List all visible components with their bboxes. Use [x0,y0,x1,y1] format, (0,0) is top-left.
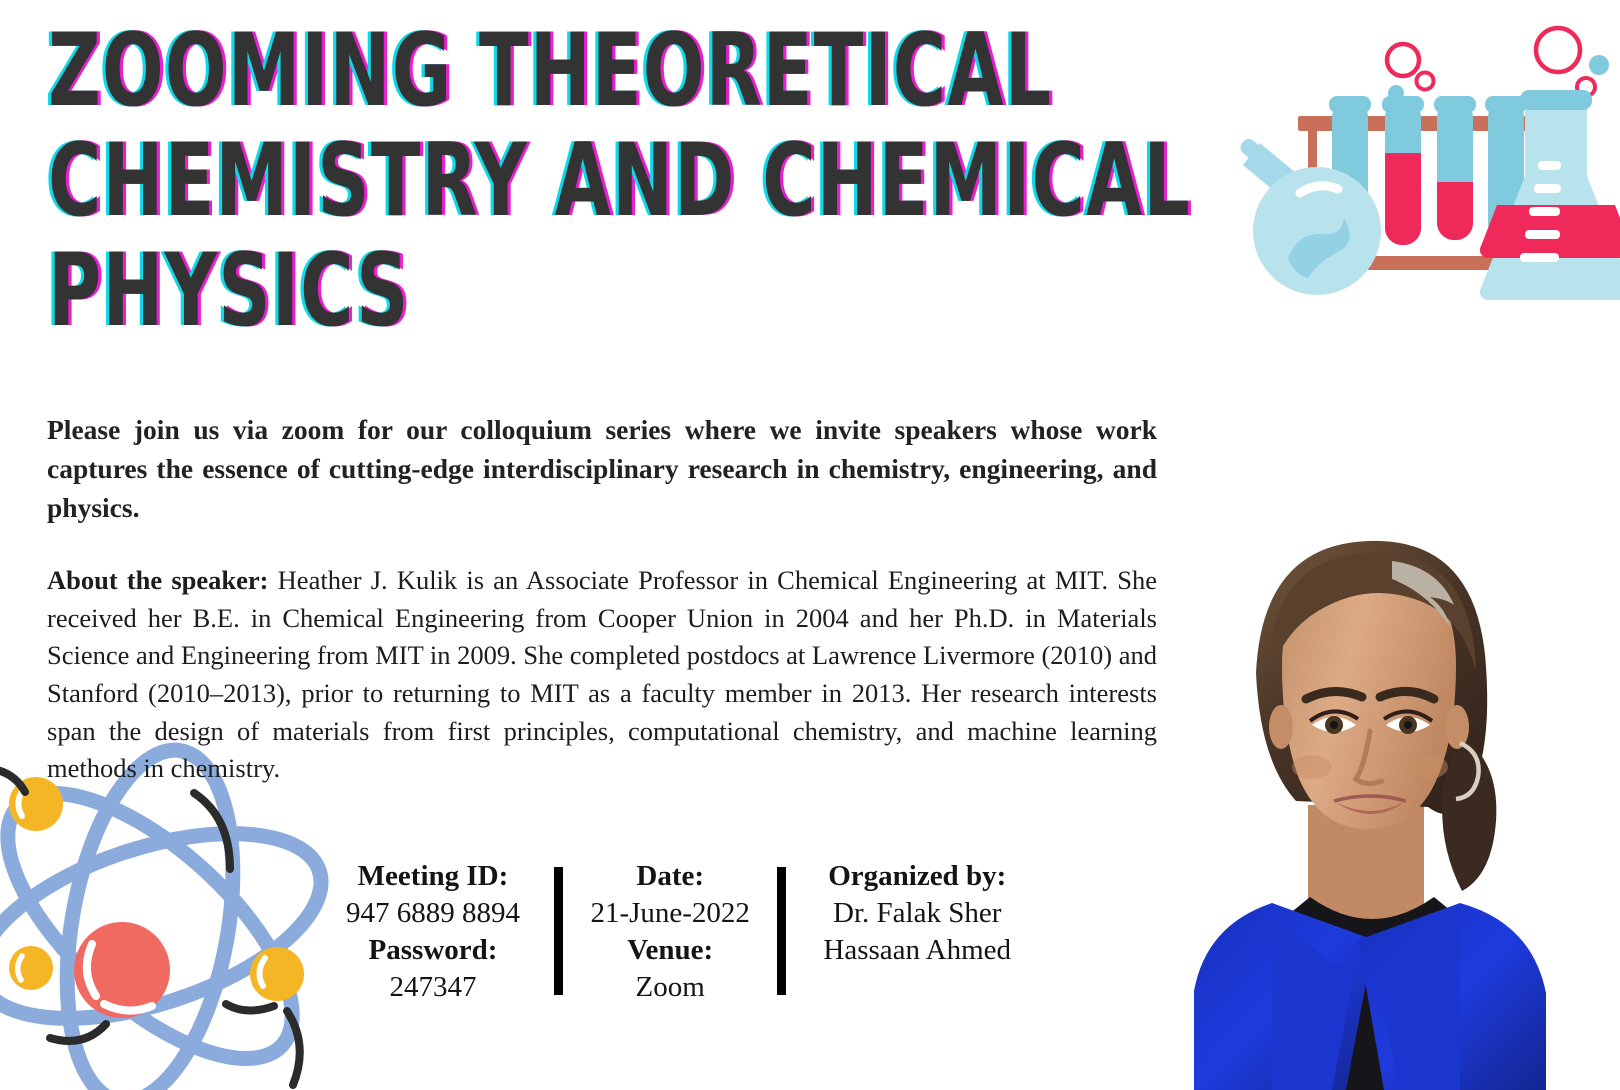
bubble-outline-icon [1387,44,1419,76]
measurement-mark [1529,207,1560,216]
motion-arc [226,1004,274,1011]
measurement-mark [1520,253,1559,262]
test-tube-liquid [1437,182,1473,240]
test-tube-liquid [1385,153,1421,245]
title-line-2: Chemistry and Chemical [48,132,856,229]
detail-column-organizers: Organized by: Dr. Falak Sher Hassaan Ahm… [804,858,1030,969]
detail-label: Password: [369,932,498,969]
measurement-mark [1534,184,1561,193]
motion-arc [0,768,25,792]
bubble-outline-icon [1536,28,1580,72]
poster-canvas: Zooming Theoretical Chemistry and Chemic… [0,0,1620,1090]
test-tube-lip [1434,96,1476,113]
bubble-dot-icon [1589,55,1609,75]
speaker-portrait [1160,505,1620,1090]
detail-label: Meeting ID: [358,858,509,895]
bio-body-text: Heather J. Kulik is an Associate Profess… [47,565,1157,783]
cheek-shading [1292,755,1332,779]
laboratory-glassware-illustration [1200,8,1620,308]
ear [1445,705,1469,749]
title-line-3: Physics [48,242,856,339]
cheek-shading [1408,755,1448,779]
detail-label: Venue: [627,932,713,969]
detail-label: Date: [636,858,704,895]
detail-value: Dr. Falak Sher [833,895,1001,932]
detail-label: Organized by: [828,858,1006,895]
meeting-details-strip: Meeting ID: 947 6889 8894 Password: 2473… [330,858,1030,1006]
intro-paragraph: Please join us via zoom for our colloqui… [47,410,1157,527]
detail-value: 21-June-2022 [590,895,749,932]
bubble-outline-icon [1417,73,1434,90]
detail-value: 947 6889 8894 [346,895,520,932]
detail-value: Hassaan Ahmed [823,932,1011,969]
detail-column-meeting: Meeting ID: 947 6889 8894 Password: 2473… [330,858,536,1006]
detail-divider [554,867,563,995]
detail-value: 247347 [389,969,476,1006]
test-tube-lip [1382,96,1424,113]
detail-divider [777,867,786,995]
speaker-bio-paragraph: About the speaker: Heather J. Kulik is a… [47,562,1157,788]
measurement-mark [1525,230,1560,239]
measurement-mark [1538,161,1561,170]
title-line-1: Zooming Theoretical [48,22,856,119]
detail-value: Zoom [636,969,705,1006]
test-tube-lip [1329,96,1371,113]
pupil [1404,721,1412,729]
pupil [1330,721,1338,729]
ear [1269,705,1293,749]
bio-lead-label: About the speaker: [47,565,269,595]
detail-column-date: Date: 21-June-2022 Venue: Zoom [581,858,759,1006]
poster-title: Zooming Theoretical Chemistry and Chemic… [48,22,1058,339]
erlenmeyer-neck-lip [1520,90,1592,110]
